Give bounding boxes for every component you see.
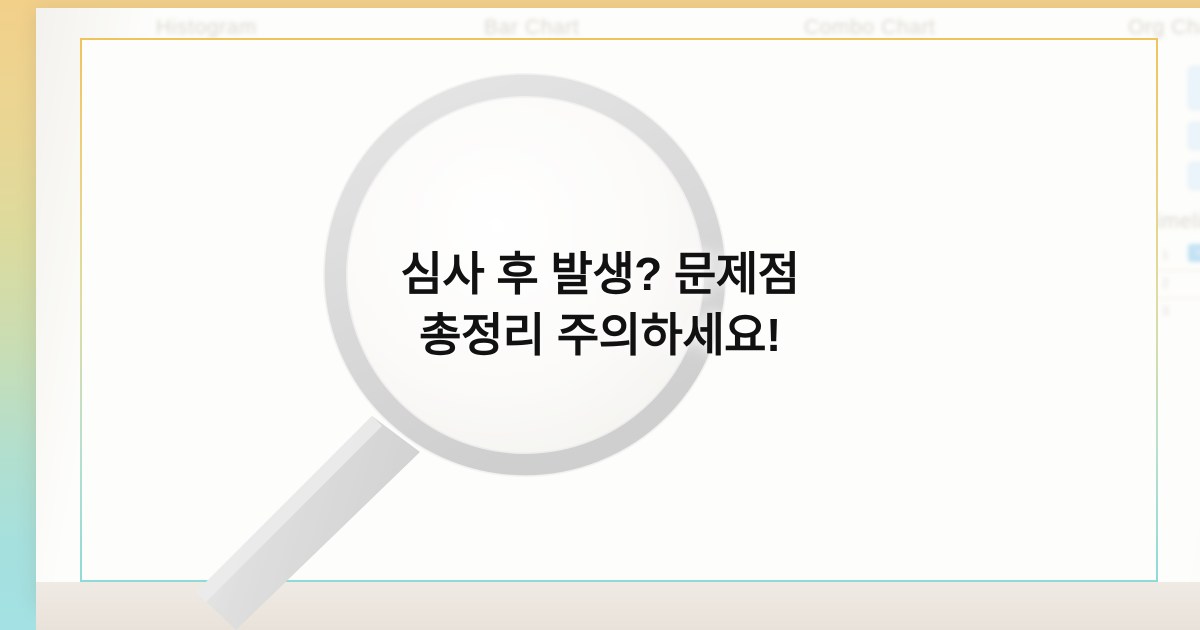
org-node: Jerry Vice President (1188, 66, 1200, 110)
headline: 심사 후 발생? 문제점 총정리 주의하세요! (0, 244, 1200, 365)
panel-title-combo-chart: Combo Chart (804, 16, 935, 40)
headline-line-2: 총정리 주의하세요! (0, 305, 1200, 366)
panel-title-org-chart: Org Chart (1128, 16, 1200, 40)
org-node: Kurt (1188, 122, 1200, 150)
panel-title-bar-chart: Bar Chart (484, 16, 579, 40)
card-bottom-band (36, 582, 1200, 630)
org-node: Cleaners (1188, 162, 1200, 190)
headline-line-1: 심사 후 발생? 문제점 (0, 244, 1200, 305)
panel-title-histogram: Histogram (156, 16, 257, 40)
